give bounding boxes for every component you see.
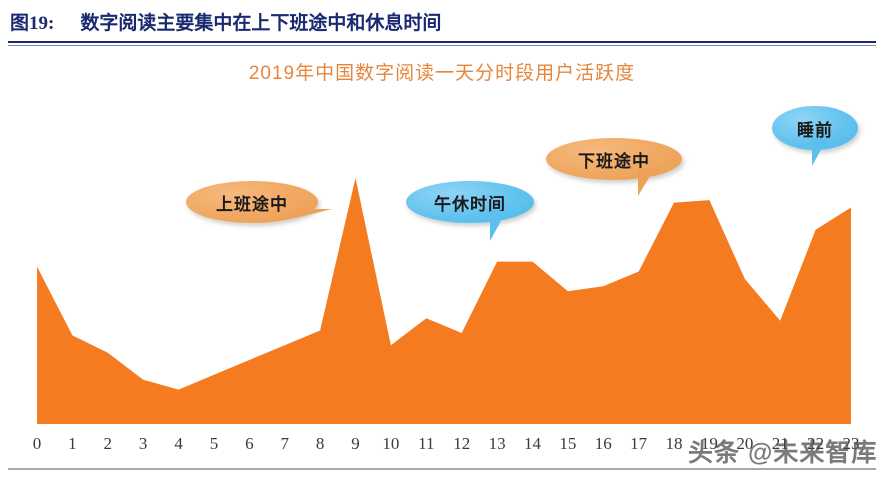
callout-lunch-break: 午休时间 — [406, 181, 534, 223]
callout-bubble: 午休时间 — [406, 181, 534, 223]
callout-label: 睡前 — [797, 116, 833, 141]
x-axis-tick-3: 3 — [139, 434, 148, 454]
x-axis-tick-18: 18 — [666, 434, 683, 454]
figure-page: 图19: 数字阅读主要集中在上下班途中和休息时间 2019年中国数字阅读一天分时… — [0, 0, 884, 477]
x-axis-tick-17: 17 — [630, 434, 647, 454]
callout-commute-evening: 下班途中 — [546, 138, 682, 180]
chart-panel: 2019年中国数字阅读一天分时段用户活跃度 上班途中 午休时间 下班途中 — [0, 48, 884, 458]
x-axis-tick-6: 6 — [245, 434, 254, 454]
callout-tail — [812, 138, 832, 166]
callout-before-sleep: 睡前 — [772, 106, 858, 150]
callout-commute-morning: 上班途中 — [186, 181, 318, 223]
callout-bubble: 下班途中 — [546, 138, 682, 180]
callout-label: 上班途中 — [216, 190, 288, 215]
x-axis-tick-9: 9 — [351, 434, 360, 454]
x-axis-tick-16: 16 — [595, 434, 612, 454]
x-axis-tick-0: 0 — [33, 434, 42, 454]
x-axis-tick-2: 2 — [104, 434, 113, 454]
callout-tail — [490, 211, 512, 241]
x-axis-tick-5: 5 — [210, 434, 219, 454]
x-axis-tick-15: 15 — [559, 434, 576, 454]
watermark-text: 头条 @未来智库 — [688, 439, 877, 467]
x-axis-tick-11: 11 — [418, 434, 434, 454]
x-axis-tick-7: 7 — [280, 434, 289, 454]
callout-tail — [296, 209, 332, 222]
callout-tail — [638, 168, 660, 196]
x-axis-tick-12: 12 — [453, 434, 470, 454]
area-chart-plot — [0, 48, 884, 458]
figure-number-label: 图19: — [10, 8, 54, 35]
x-axis-tick-14: 14 — [524, 434, 541, 454]
header-divider-thick — [8, 41, 876, 43]
header-divider-thin — [8, 45, 876, 46]
figure-header-row: 图19: 数字阅读主要集中在上下班途中和休息时间 — [10, 8, 441, 35]
figure-title: 数字阅读主要集中在上下班途中和休息时间 — [80, 8, 441, 35]
watermark: 头条 @未来智库 — [688, 433, 877, 469]
x-axis-tick-1: 1 — [68, 434, 77, 454]
x-axis-tick-10: 10 — [382, 434, 399, 454]
x-axis-tick-8: 8 — [316, 434, 325, 454]
x-axis-tick-13: 13 — [489, 434, 506, 454]
x-axis-tick-4: 4 — [174, 434, 183, 454]
figure-header: 图19: 数字阅读主要集中在上下班途中和休息时间 — [0, 0, 884, 45]
